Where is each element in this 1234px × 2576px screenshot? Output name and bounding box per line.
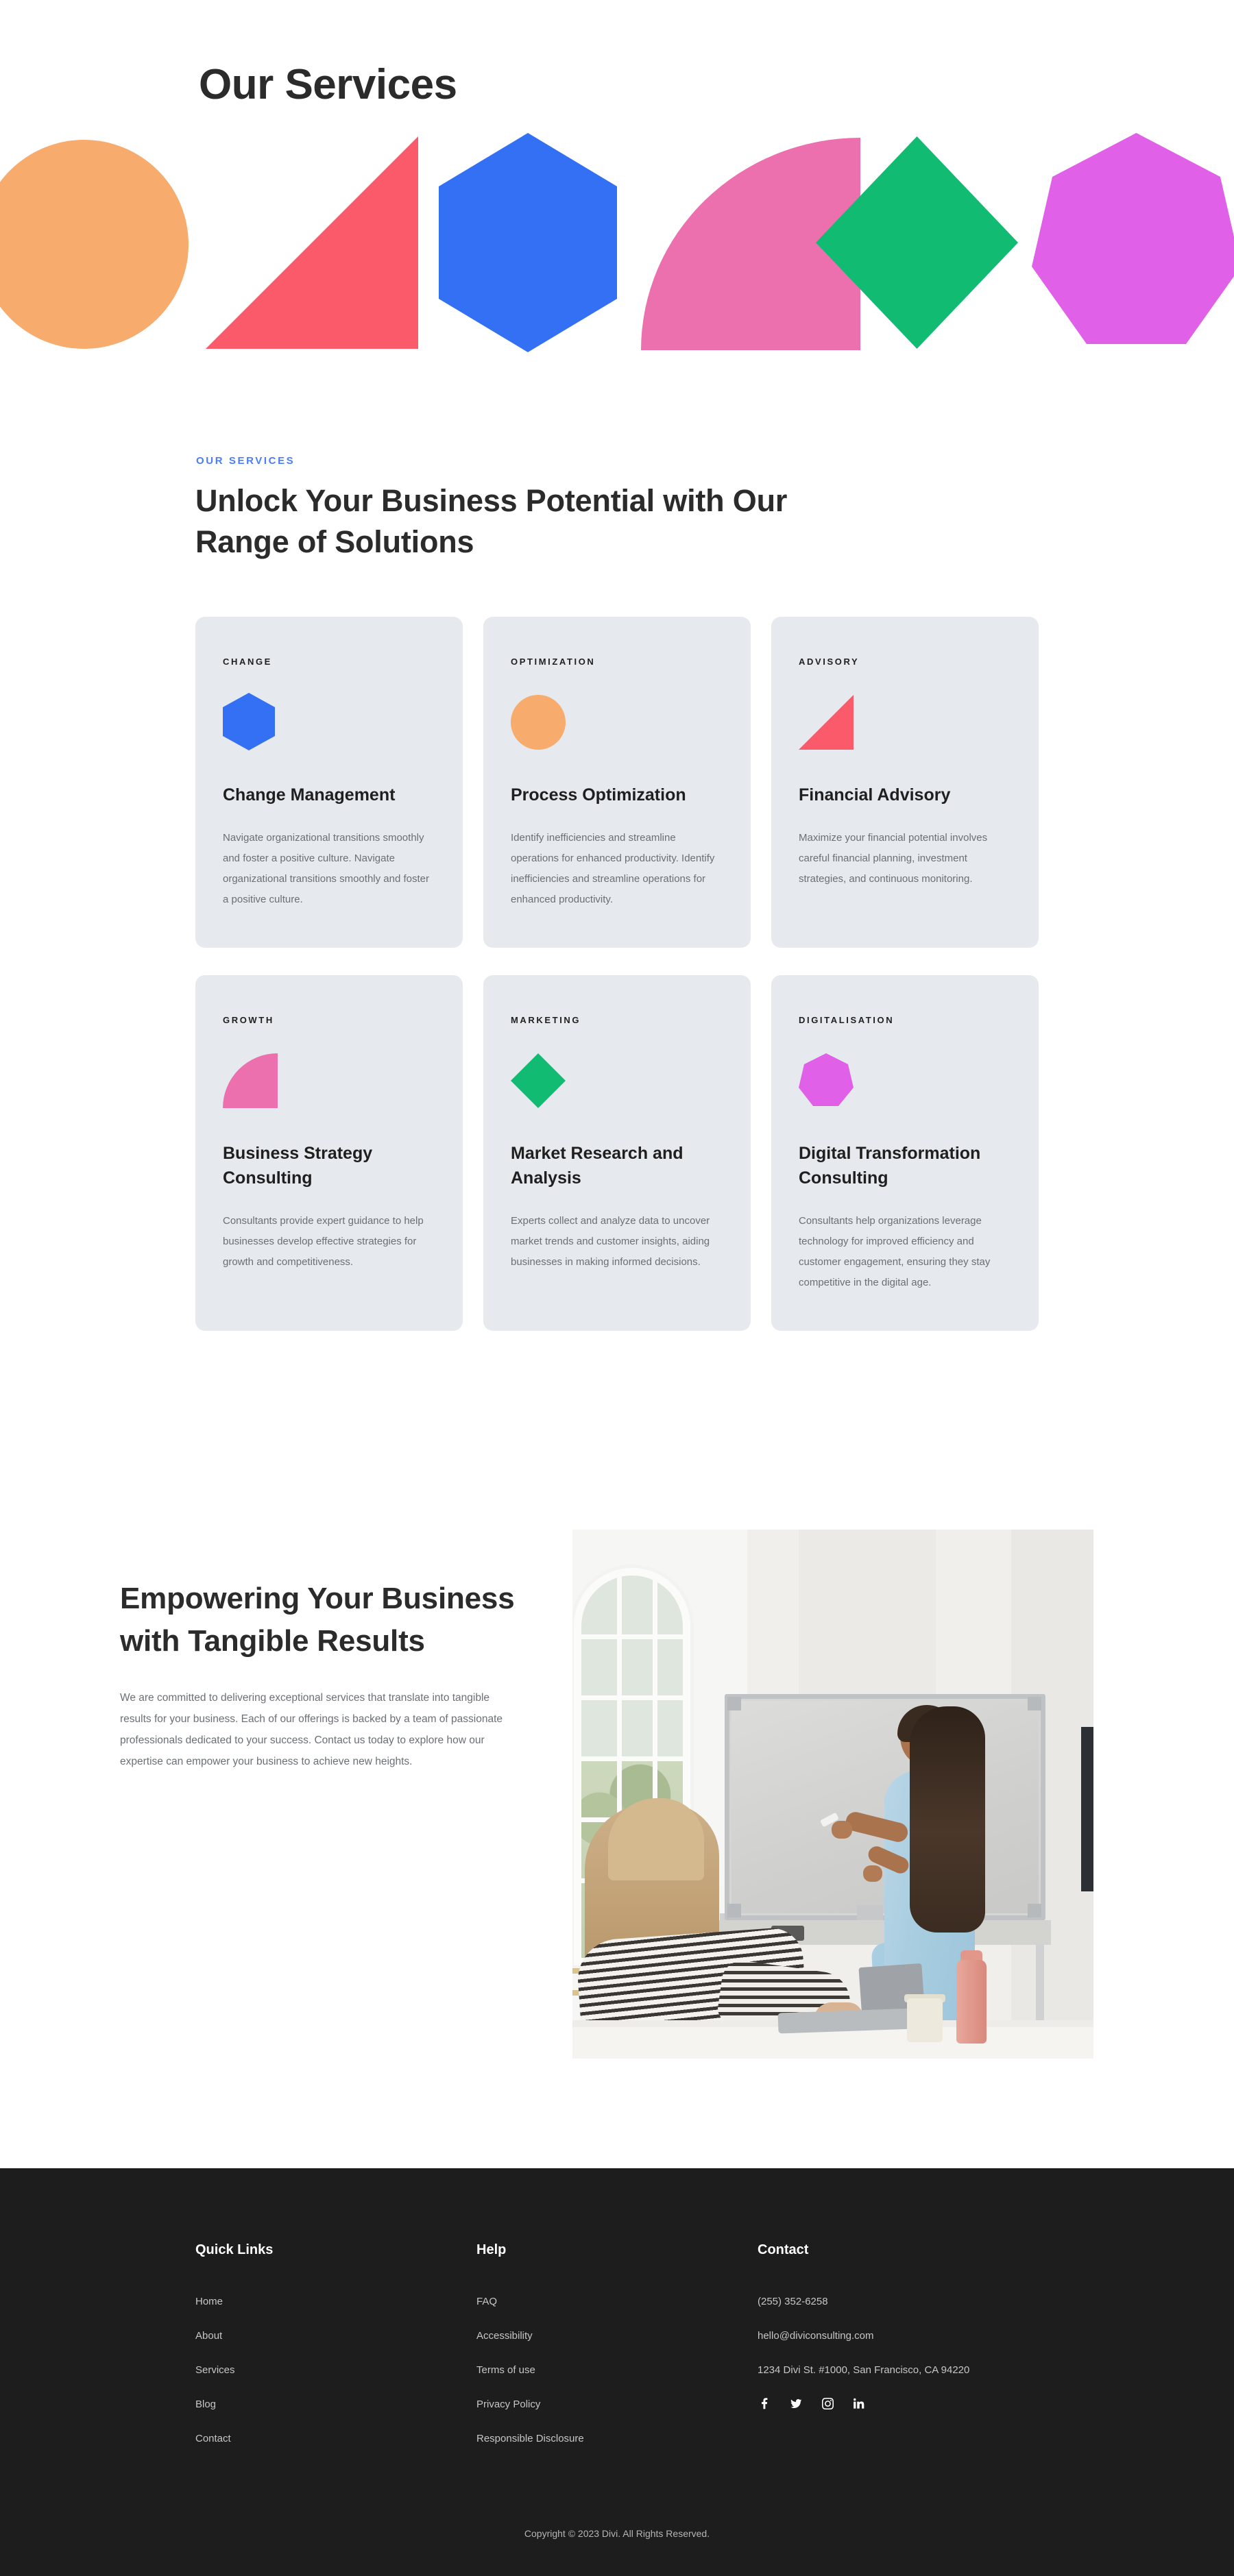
hero-title-section: Our Services <box>0 0 1234 133</box>
service-card-desc: Maximize your financial potential involv… <box>799 828 1011 890</box>
footer-link-home[interactable]: Home <box>195 2294 476 2310</box>
decorative-shapes-banner <box>0 133 1234 352</box>
footer-link-terms-of-use[interactable]: Terms of use <box>476 2362 758 2379</box>
empower-section: Empowering Your Business with Tangible R… <box>0 1447 1234 2168</box>
empower-image-column <box>572 1530 1093 2059</box>
service-card-icon-wrap <box>511 693 723 750</box>
service-card-tag: GROWTH <box>223 1015 435 1025</box>
service-card-icon-wrap <box>511 1051 723 1109</box>
service-card-desc: Identify inefficiencies and streamline o… <box>511 828 723 910</box>
services-container: OUR SERVICES Unlock Your Business Potent… <box>195 455 1039 1331</box>
office-meeting-photo <box>572 1530 1093 2059</box>
footer-column-title: Quick Links <box>195 2242 476 2258</box>
banner-hexagon-icon <box>439 133 617 352</box>
service-card-tag: ADVISORY <box>799 657 1011 667</box>
service-card-title: Change Management <box>223 783 435 808</box>
services-card-grid: CHANGE Change Management Navigate organi… <box>195 617 1039 1332</box>
service-card-title: Process Optimization <box>511 783 723 808</box>
footer-column-help: Help FAQ Accessibility Terms of use Priv… <box>476 2242 758 2465</box>
service-card-desc: Consultants provide expert guidance to h… <box>223 1211 435 1273</box>
service-card-desc: Navigate organizational transitions smoo… <box>223 828 435 910</box>
service-card-icon-wrap <box>223 693 435 750</box>
diamond-icon <box>511 1053 566 1108</box>
empower-heading: Empowering Your Business with Tangible R… <box>120 1578 531 1662</box>
circle-icon <box>511 695 566 750</box>
footer-link-about[interactable]: About <box>195 2328 476 2344</box>
banner-triangle-icon <box>206 136 418 349</box>
footer-link-services[interactable]: Services <box>195 2362 476 2379</box>
instagram-icon[interactable] <box>821 2396 834 2410</box>
service-card[interactable]: DIGITALISATION Digital Transformation Co… <box>771 975 1039 1331</box>
service-card-desc: Consultants help organizations leverage … <box>799 1211 1011 1293</box>
service-card-title: Digital Transformation Consulting <box>799 1142 1011 1190</box>
service-card-title: Market Research and Analysis <box>511 1142 723 1190</box>
footer-column-quick-links: Quick Links Home About Services Blog Con… <box>195 2242 476 2465</box>
footer-link-accessibility[interactable]: Accessibility <box>476 2328 758 2344</box>
contact-address: 1234 Divi St. #1000, San Francisco, CA 9… <box>758 2362 984 2379</box>
twitter-icon[interactable] <box>789 2396 803 2410</box>
footer-copyright: Copyright © 2023 Divi. All Rights Reserv… <box>0 2528 1234 2576</box>
site-footer: Quick Links Home About Services Blog Con… <box>0 2168 1234 2576</box>
services-heading: Unlock Your Business Potential with Our … <box>195 480 881 562</box>
page-root: Our Services OUR SERVICES Unlock Your Bu… <box>0 0 1234 2576</box>
service-card-desc: Experts collect and analyze data to unco… <box>511 1211 723 1273</box>
footer-column-contact: Contact (255) 352-6258 hello@diviconsult… <box>758 2242 1039 2465</box>
service-card-tag: DIGITALISATION <box>799 1015 1011 1025</box>
page-title: Our Services <box>199 62 1234 108</box>
service-card-icon-wrap <box>223 1051 435 1109</box>
service-card[interactable]: MARKETING Market Research and Analysis E… <box>483 975 751 1331</box>
service-card-icon-wrap <box>799 1051 1011 1109</box>
empower-text-column: Empowering Your Business with Tangible R… <box>120 1530 572 1771</box>
service-card-tag: MARKETING <box>511 1015 723 1025</box>
service-card-tag: CHANGE <box>223 657 435 667</box>
banner-circle-icon <box>0 140 189 349</box>
heptagon-icon <box>799 1053 854 1108</box>
empower-container: Empowering Your Business with Tangible R… <box>120 1530 1114 2059</box>
services-section: OUR SERVICES Unlock Your Business Potent… <box>0 352 1234 1447</box>
service-card-title: Financial Advisory <box>799 783 1011 808</box>
footer-column-title: Help <box>476 2242 758 2258</box>
linkedin-icon[interactable] <box>852 2396 866 2410</box>
footer-link-faq[interactable]: FAQ <box>476 2294 758 2310</box>
footer-link-responsible-disclosure[interactable]: Responsible Disclosure <box>476 2431 758 2447</box>
service-card[interactable]: OPTIMIZATION Process Optimization Identi… <box>483 617 751 948</box>
services-eyebrow: OUR SERVICES <box>195 455 1039 467</box>
footer-column-title: Contact <box>758 2242 1039 2258</box>
facebook-icon[interactable] <box>758 2396 771 2410</box>
social-links <box>758 2396 1039 2410</box>
service-card[interactable]: GROWTH Business Strategy Consulting Cons… <box>195 975 463 1331</box>
service-card-title: Business Strategy Consulting <box>223 1142 435 1190</box>
contact-email[interactable]: hello@diviconsulting.com <box>758 2328 984 2344</box>
banner-diamond-icon <box>816 136 1018 349</box>
footer-link-privacy-policy[interactable]: Privacy Policy <box>476 2396 758 2413</box>
footer-link-blog[interactable]: Blog <box>195 2396 476 2413</box>
banner-heptagon-icon <box>1032 133 1234 352</box>
triangle-icon <box>799 695 854 750</box>
service-card[interactable]: CHANGE Change Management Navigate organi… <box>195 617 463 948</box>
service-card-tag: OPTIMIZATION <box>511 657 723 667</box>
hexagon-icon <box>223 693 275 750</box>
empower-paragraph: We are committed to delivering exception… <box>120 1687 511 1772</box>
service-card[interactable]: ADVISORY Financial Advisory Maximize you… <box>771 617 1039 948</box>
contact-phone[interactable]: (255) 352-6258 <box>758 2294 984 2310</box>
service-card-icon-wrap <box>799 693 1011 750</box>
footer-link-contact[interactable]: Contact <box>195 2431 476 2447</box>
footer-columns: Quick Links Home About Services Blog Con… <box>195 2242 1039 2465</box>
quarter-circle-icon <box>223 1053 278 1108</box>
